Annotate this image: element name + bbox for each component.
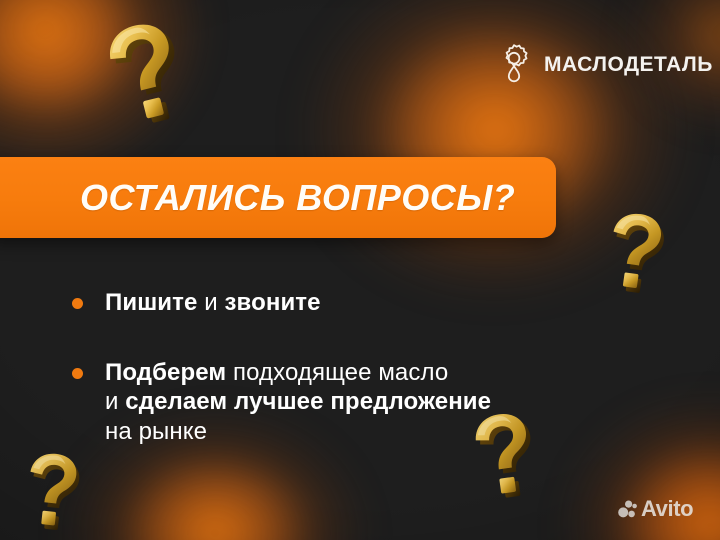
emphasis-text: Подберем	[105, 359, 226, 386]
list-item: Пишите и звоните	[72, 288, 682, 318]
plain-text: и	[105, 388, 125, 415]
brand-logo: МАСЛОДЕТАЛЬ	[494, 42, 713, 86]
question-mark-bottom-left-icon	[18, 449, 87, 540]
emphasis-text: сделаем лучшее предложение	[125, 388, 491, 415]
plain-text: и	[197, 289, 224, 316]
brand-name: МАСЛОДЕТАЛЬ	[544, 54, 713, 75]
avito-wordmark: Avito	[641, 498, 693, 520]
avito-dots-icon	[618, 500, 637, 519]
bullet-dot-icon	[72, 368, 83, 379]
question-mark-top-left-icon	[96, 14, 199, 141]
avito-watermark: Avito	[618, 498, 693, 520]
glow-top-left	[0, 0, 210, 180]
benefits-list: Пишите и звонитеПодберем подходящее масл…	[72, 288, 682, 446]
emphasis-text: звоните	[225, 289, 321, 316]
gear-oil-drop-icon	[494, 42, 534, 86]
plain-text: подходящее масло	[226, 359, 448, 386]
emphasis-text: Пишите	[105, 289, 197, 316]
list-item-text: Подберем подходящее маслои сделаем лучше…	[105, 358, 491, 447]
list-item-text: Пишите и звоните	[105, 288, 321, 318]
promo-banner-canvas: МАСЛОДЕТАЛЬ ОСТАЛИСЬ ВОПРОСЫ? Пишите и з…	[0, 0, 720, 540]
list-item: Подберем подходящее маслои сделаем лучше…	[72, 358, 682, 447]
headline-banner: ОСТАЛИСЬ ВОПРОСЫ?	[0, 157, 556, 238]
plain-text: на рынке	[105, 418, 207, 445]
bullet-dot-icon	[72, 298, 83, 309]
headline-text: ОСТАЛИСЬ ВОПРОСЫ?	[80, 177, 515, 219]
